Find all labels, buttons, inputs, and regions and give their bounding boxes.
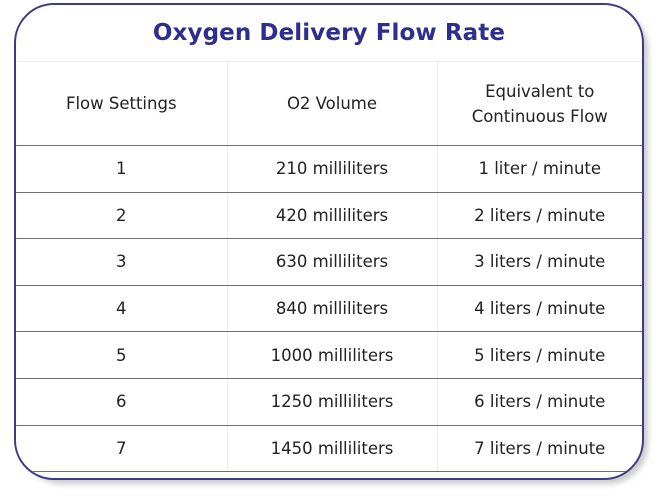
- table-header: Flow Settings O2 Volume Equivalent to Co…: [16, 62, 642, 146]
- table-body: 1 210 milliliters 1 liter / minute 2 420…: [16, 146, 642, 472]
- column-header-equivalent-continuous-flow: Equivalent to Continuous Flow: [437, 62, 642, 146]
- table-header-row: Flow Settings O2 Volume Equivalent to Co…: [16, 62, 642, 146]
- column-header-o2-volume-line-1: O2 Volume: [232, 91, 433, 116]
- cell-o2-volume: 1000 milliliters: [227, 332, 437, 379]
- cell-o2-volume: 840 milliliters: [227, 285, 437, 332]
- oxygen-flow-rate-card: Oxygen Delivery Flow Rate Flow Settings …: [14, 3, 644, 480]
- cell-flow-setting: 4: [16, 285, 227, 332]
- column-header-equivalent-line-2: Continuous Flow: [442, 104, 639, 129]
- cell-flow-setting: 1: [16, 146, 227, 193]
- column-header-o2-volume: O2 Volume: [227, 62, 437, 146]
- cell-equivalent-flow: 4 liters / minute: [437, 285, 642, 332]
- cell-equivalent-flow: 5 liters / minute: [437, 332, 642, 379]
- cell-o2-volume: 1250 milliliters: [227, 378, 437, 425]
- page-title: Oxygen Delivery Flow Rate: [16, 5, 642, 61]
- table-row: 5 1000 milliliters 5 liters / minute: [16, 332, 642, 379]
- cell-equivalent-flow: 7 liters / minute: [437, 425, 642, 472]
- cell-o2-volume: 420 milliliters: [227, 192, 437, 239]
- table-row: 3 630 milliliters 3 liters / minute: [16, 239, 642, 286]
- cell-equivalent-flow: 6 liters / minute: [437, 378, 642, 425]
- cell-o2-volume: 630 milliliters: [227, 239, 437, 286]
- table-container: Flow Settings O2 Volume Equivalent to Co…: [16, 61, 642, 472]
- cell-flow-setting: 5: [16, 332, 227, 379]
- cell-flow-setting: 6: [16, 378, 227, 425]
- column-header-flow-settings-line-1: Flow Settings: [20, 91, 223, 116]
- table-row: 6 1250 milliliters 6 liters / minute: [16, 378, 642, 425]
- cell-equivalent-flow: 2 liters / minute: [437, 192, 642, 239]
- table-row: 4 840 milliliters 4 liters / minute: [16, 285, 642, 332]
- column-header-equivalent-line-1: Equivalent to: [442, 79, 639, 104]
- screen: Oxygen Delivery Flow Rate Flow Settings …: [0, 0, 662, 496]
- column-header-flow-settings: Flow Settings: [16, 62, 227, 146]
- cell-equivalent-flow: 3 liters / minute: [437, 239, 642, 286]
- cell-flow-setting: 7: [16, 425, 227, 472]
- table-row: 2 420 milliliters 2 liters / minute: [16, 192, 642, 239]
- cell-flow-setting: 2: [16, 192, 227, 239]
- table-row: 1 210 milliliters 1 liter / minute: [16, 146, 642, 193]
- cell-equivalent-flow: 1 liter / minute: [437, 146, 642, 193]
- cell-flow-setting: 3: [16, 239, 227, 286]
- oxygen-flow-rate-table: Flow Settings O2 Volume Equivalent to Co…: [16, 61, 642, 472]
- cell-o2-volume: 1450 milliliters: [227, 425, 437, 472]
- cell-o2-volume: 210 milliliters: [227, 146, 437, 193]
- table-row: 7 1450 milliliters 7 liters / minute: [16, 425, 642, 472]
